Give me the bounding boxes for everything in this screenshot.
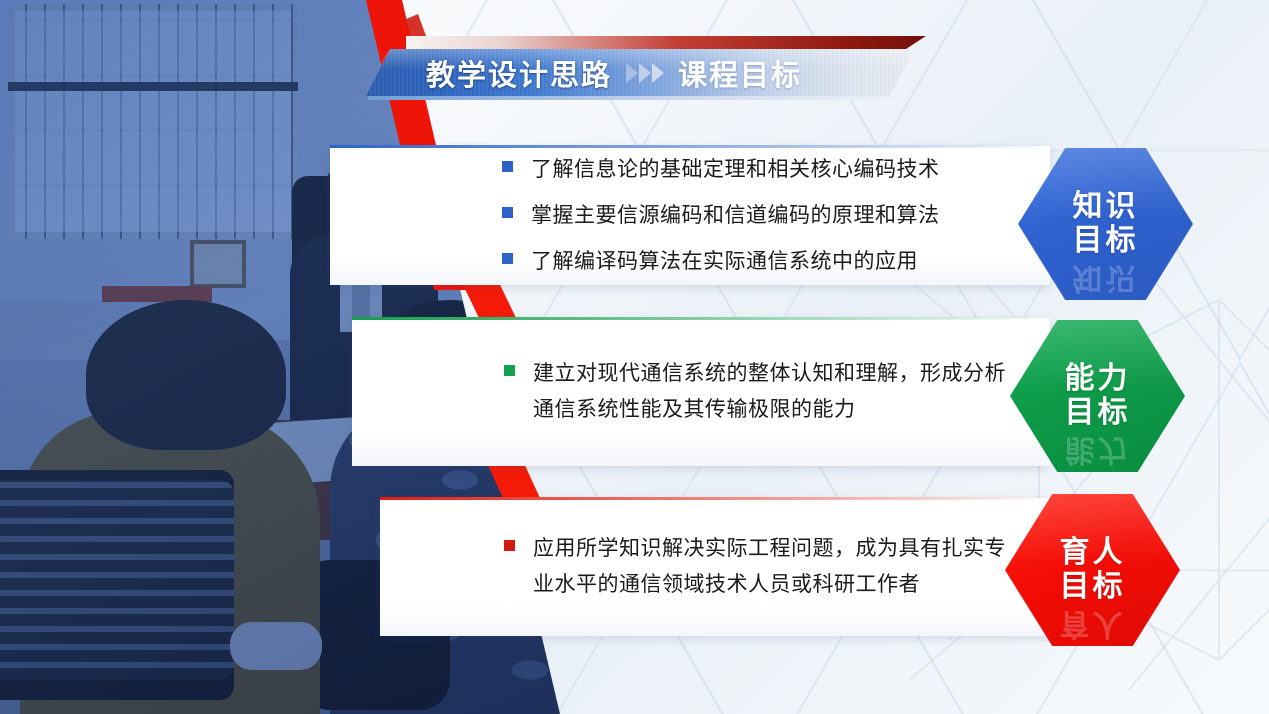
slide-title-bar: 教学设计思路 课程目标 [366, 36, 926, 104]
bullet-square-icon [502, 253, 513, 264]
card-bullet-list: 了解信息论的基础定理和相关核心编码技术 掌握主要信源编码和信道编码的原理和算法 … [330, 146, 1050, 285]
triple-chevron-right-icon [626, 63, 664, 83]
title-underline [368, 96, 908, 100]
page-subtitle: 课程目标 [678, 52, 802, 94]
title-text-group: 教学设计思路 课程目标 [426, 49, 802, 96]
bullet-text: 了解信息论的基础定理和相关核心编码技术 [531, 152, 940, 188]
bullet-square-icon [504, 365, 515, 376]
bullet-square-icon [504, 540, 515, 551]
bullet-square-icon [502, 207, 513, 218]
badge-reflection-line-1: 育人 [1060, 606, 1126, 640]
badge-line-1: 能力 [1065, 362, 1131, 396]
list-item: 掌握主要信源编码和信道编码的原理和算法 [502, 198, 1026, 234]
badge-reflection-line-1: 知识 [1073, 260, 1139, 294]
card-bullet-list: 应用所学知识解决实际工程问题，成为具有扎实专业水平的通信领域技术人员或科研工作者 [380, 498, 1050, 636]
badge-line-2: 目标 [1073, 224, 1139, 258]
bullet-text: 掌握主要信源编码和信道编码的原理和算法 [531, 198, 940, 234]
list-item: 建立对现代通信系统的整体认知和理解，形成分析通信系统性能及其传输极限的能力 [504, 356, 1026, 428]
badge-line-1: 知识 [1073, 190, 1139, 224]
slide-canvas: 教学设计思路 课程目标 了解信息论的基础定理和相关核心编码技术 掌握主要信源编码… [0, 0, 1269, 714]
badge-line-1: 育人 [1060, 536, 1126, 570]
card-bullet-list: 建立对现代通信系统的整体认知和理解，形成分析通信系统性能及其传输极限的能力 [352, 318, 1050, 466]
objective-card-ability: 建立对现代通信系统的整体认知和理解，形成分析通信系统性能及其传输极限的能力 [352, 318, 1050, 466]
list-item: 了解信息论的基础定理和相关核心编码技术 [502, 152, 1026, 188]
badge-line-2: 目标 [1065, 396, 1131, 430]
list-item: 应用所学知识解决实际工程问题，成为具有扎实专业水平的通信领域技术人员或科研工作者 [504, 531, 1026, 603]
page-title: 教学设计思路 [426, 52, 612, 94]
bullet-text: 了解编译码算法在实际通信系统中的应用 [531, 244, 918, 280]
bullet-text: 建立对现代通信系统的整体认知和理解，形成分析通信系统性能及其传输极限的能力 [533, 356, 1026, 428]
list-item: 了解编译码算法在实际通信系统中的应用 [502, 244, 1026, 280]
title-red-stripe [406, 36, 926, 49]
bullet-square-icon [502, 161, 513, 172]
badge-reflection-line-1: 能力 [1065, 432, 1131, 466]
badge-line-2: 目标 [1060, 570, 1126, 604]
objective-card-education: 应用所学知识解决实际工程问题，成为具有扎实专业水平的通信领域技术人员或科研工作者 [380, 498, 1050, 636]
objective-card-knowledge: 了解信息论的基础定理和相关核心编码技术 掌握主要信源编码和信道编码的原理和算法 … [330, 146, 1050, 285]
bullet-text: 应用所学知识解决实际工程问题，成为具有扎实专业水平的通信领域技术人员或科研工作者 [533, 531, 1026, 603]
